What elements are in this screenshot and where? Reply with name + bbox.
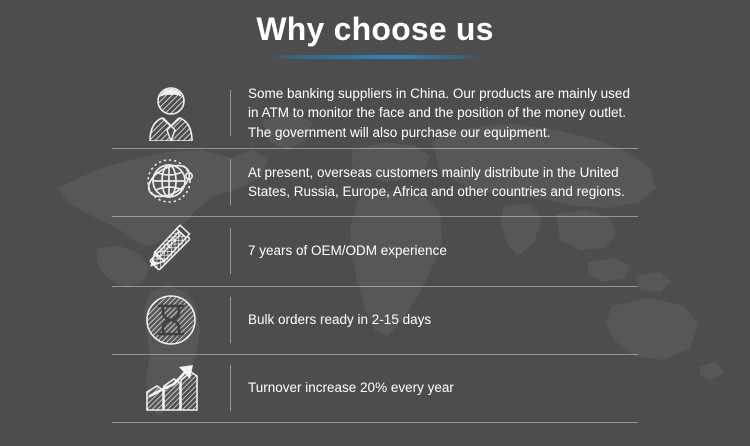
page-title-block: Why choose us xyxy=(0,8,750,59)
pencil-ruler-icon xyxy=(112,223,230,279)
list-item: Some banking suppliers in China. Our pro… xyxy=(0,78,750,148)
feature-text-value: Some banking suppliers in China. Our pro… xyxy=(248,84,638,143)
feature-text-value: Bulk orders ready in 2-15 days xyxy=(248,310,638,330)
title-underline-accent xyxy=(266,55,484,59)
why-choose-us-panel: Why choose us xyxy=(0,0,750,446)
list-item: At present, overseas customers mainly di… xyxy=(0,148,750,216)
list-item: 7 years of OEM/ODM experience xyxy=(0,216,750,286)
feature-text: Bulk orders ready in 2-15 days xyxy=(231,310,750,330)
feature-list: Some banking suppliers in China. Our pro… xyxy=(0,78,750,422)
feature-text: Turnover increase 20% every year xyxy=(231,378,750,398)
feature-text-value: 7 years of OEM/ODM experience xyxy=(248,241,638,261)
feature-text-value: Turnover increase 20% every year xyxy=(248,378,638,398)
list-item: Bulk orders ready in 2-15 days xyxy=(0,286,750,354)
feature-text-value: At present, overseas customers mainly di… xyxy=(248,163,638,202)
globe-network-icon xyxy=(112,155,230,209)
divider xyxy=(112,422,638,423)
growth-chart-icon xyxy=(112,362,230,414)
feature-text: 7 years of OEM/ODM experience xyxy=(231,241,750,261)
businessman-icon xyxy=(112,85,230,141)
page-title: Why choose us xyxy=(0,8,750,50)
hourglass-icon xyxy=(112,293,230,347)
list-item: Turnover increase 20% every year xyxy=(0,354,750,422)
feature-text: At present, overseas customers mainly di… xyxy=(231,163,750,202)
feature-text: Some banking suppliers in China. Our pro… xyxy=(231,84,750,143)
